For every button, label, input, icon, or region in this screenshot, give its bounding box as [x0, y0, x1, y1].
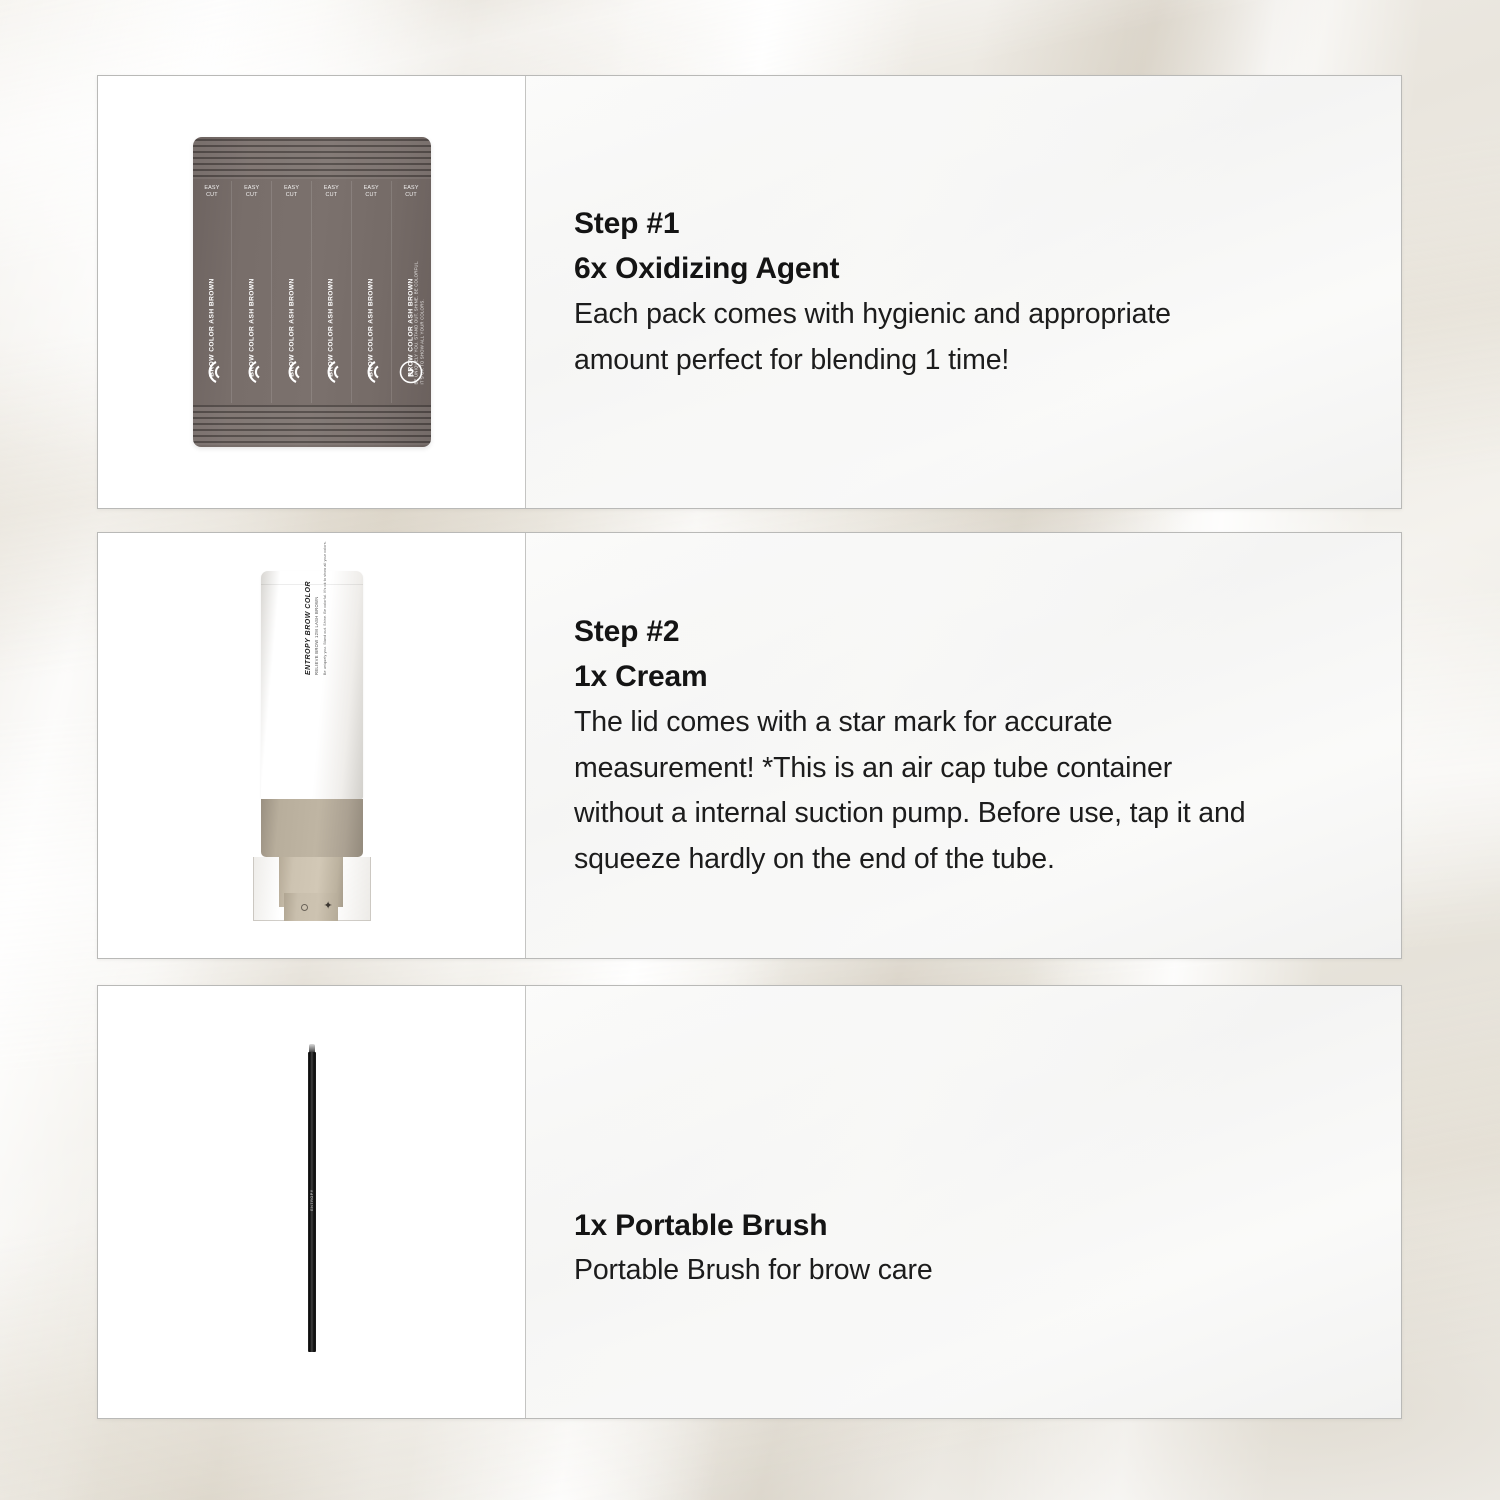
- sachet-crimp-bottom: [193, 405, 431, 445]
- easy-cut-label: EASY CUT: [364, 185, 379, 200]
- item-title-3: 1x Portable Brush: [574, 1203, 1361, 1249]
- tube-brand-text: ENTROPY BROW COLOR: [305, 541, 312, 675]
- step-label-1: Step #1: [574, 201, 1361, 247]
- sachet-crimp-top: [193, 139, 431, 179]
- portable-brush-graphic: ENTROPY: [297, 1052, 327, 1352]
- brush-label-text: ENTROPY: [310, 1189, 314, 1211]
- crescent-logo-icon: [318, 359, 344, 385]
- easy-cut-label: EASY CUT: [244, 185, 259, 200]
- sachet-strip: EASY CUT BROW COLOR ASH BROWN: [232, 181, 272, 403]
- product-image-cream-tube: ENTROPY BROW COLOR RELIEVE BROW 12M LASH…: [98, 533, 526, 958]
- crescent-logo-icon: [199, 359, 225, 385]
- easy-cut-label: EASY CUT: [403, 185, 418, 200]
- tube-body-text: Be uniquely you. Stand out. Shine. Be co…: [323, 541, 328, 675]
- item-title-2: 1x Cream: [574, 654, 1361, 700]
- tube-sub-text: RELIEVE BROW 12M LASH BROWN: [314, 541, 319, 675]
- crescent-logo-icon: [358, 359, 384, 385]
- cream-tube-graphic: ENTROPY BROW COLOR RELIEVE BROW 12M LASH…: [248, 571, 376, 921]
- step-card-2: ENTROPY BROW COLOR RELIEVE BROW 12M LASH…: [97, 532, 1402, 959]
- tube-shoulder: [261, 799, 363, 857]
- sachet-strip-last: EASY CUT BROW COLOR ASH BROWN BE UNIQUEL…: [392, 181, 431, 403]
- sachet-strip: EASY CUT BROW COLOR ASH BROWN: [272, 181, 312, 403]
- step-label-2: Step #2: [574, 609, 1361, 655]
- sachet-strip-row: EASY CUT BROW COLOR ASH BROWN EASY: [193, 181, 431, 403]
- volume-badge-icon: 2: [398, 359, 424, 385]
- crescent-logo-icon: [239, 359, 265, 385]
- item-description-1: Each pack comes with hygienic and approp…: [574, 292, 1234, 383]
- sachet-strip: EASY CUT BROW COLOR ASH BROWN: [312, 181, 352, 403]
- sachet-strip: EASY CUT BROW COLOR ASH BROWN: [352, 181, 392, 403]
- crescent-logo-icon: [279, 359, 305, 385]
- item-description-2: The lid comes with a star mark for accur…: [574, 700, 1254, 882]
- easy-cut-label: EASY CUT: [324, 185, 339, 200]
- step-text-1: Step #1 6x Oxidizing Agent Each pack com…: [526, 76, 1401, 508]
- product-image-oxidizing-agent: EASY CUT BROW COLOR ASH BROWN EASY: [98, 76, 526, 508]
- item-title-1: 6x Oxidizing Agent: [574, 246, 1361, 292]
- tube-dot-mark: [301, 904, 308, 911]
- step-card-3: ENTROPY 1x Portable Brush Portable Brush…: [97, 985, 1402, 1419]
- item-description-3: Portable Brush for brow care: [574, 1248, 1234, 1294]
- tube-label-text: ENTROPY BROW COLOR RELIEVE BROW 12M LASH…: [305, 541, 328, 675]
- step-text-2: Step #2 1x Cream The lid comes with a st…: [526, 533, 1401, 958]
- sachet-strip: EASY CUT BROW COLOR ASH BROWN: [193, 181, 233, 403]
- sachet-pack-graphic: EASY CUT BROW COLOR ASH BROWN EASY: [193, 137, 431, 447]
- brush-handle: ENTROPY: [308, 1052, 316, 1352]
- step-text-3: 1x Portable Brush Portable Brush for bro…: [526, 986, 1401, 1418]
- star-mark-icon: ✦: [324, 901, 333, 912]
- svg-text:2: 2: [408, 367, 414, 379]
- easy-cut-label: EASY CUT: [204, 185, 219, 200]
- product-image-portable-brush: ENTROPY: [98, 986, 526, 1418]
- easy-cut-label: EASY CUT: [284, 185, 299, 200]
- step-card-1: EASY CUT BROW COLOR ASH BROWN EASY: [97, 75, 1402, 509]
